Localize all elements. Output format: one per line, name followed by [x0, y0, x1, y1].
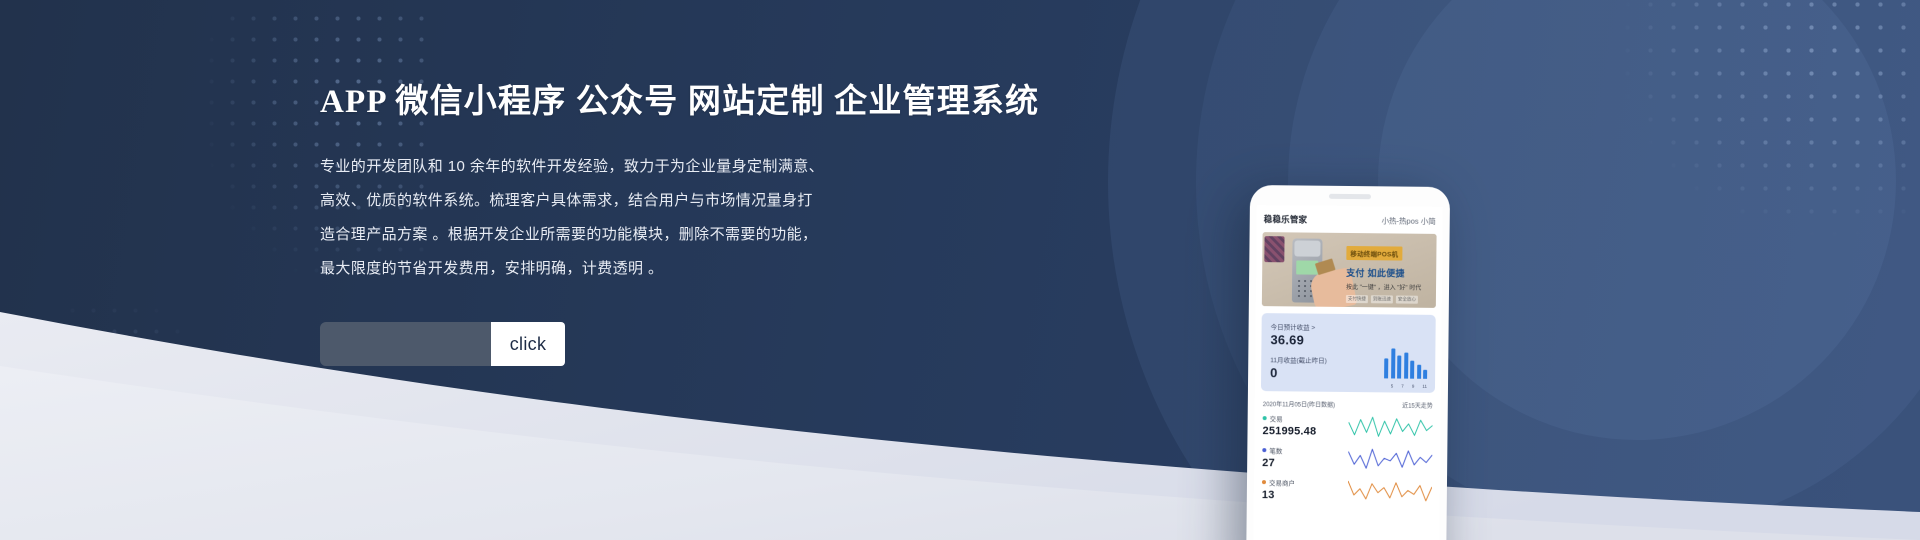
bar-axis-label-1: 5	[1391, 383, 1394, 388]
page-title: APP 微信小程序 公众号 网站定制 企业管理系统	[320, 74, 1039, 122]
hero-description: 专业的开发团队和 10 余年的软件开发经验，致力于为企业量身定制满意、 高效、优…	[320, 150, 940, 286]
banner-mini-tag-2: 到账迅速	[1371, 295, 1393, 303]
banner-mini-tag-1: 支付快捷	[1346, 295, 1368, 303]
bar	[1397, 355, 1401, 378]
banner-mini-tags: 支付快捷 到账迅速 安全放心	[1346, 295, 1432, 304]
banner-cloth-prop	[1264, 236, 1284, 262]
app-topbar: 稳稳乐管家 小热-热pos 小简	[1257, 205, 1443, 234]
stats-trend-label: 近15天走势	[1402, 401, 1433, 410]
banner-mini-tag-3: 安全放心	[1396, 295, 1418, 303]
hero-banner: APP 微信小程序 公众号 网站定制 企业管理系统 专业的开发团队和 10 余年…	[0, 0, 1920, 540]
sparkline-chart	[1348, 478, 1432, 503]
description-line-2: 高效、优质的软件系统。梳理客户具体需求，结合用户与市场情况量身打	[320, 184, 940, 218]
stat-name: 交易商户	[1269, 477, 1295, 487]
stats-header: 2020年11月05日(昨日数据) 近15天走势	[1263, 399, 1433, 410]
banner-subline: 按此 "一键" ，进入 "好" 时代	[1346, 282, 1432, 292]
stat-row-merchants[interactable]: 交易商户 13	[1262, 477, 1432, 503]
promo-banner[interactable]: 移动终端POS机 支付 如此便捷 按此 "一键" ，进入 "好" 时代 支付快捷…	[1262, 232, 1437, 308]
legend-dot-icon	[1262, 480, 1266, 484]
stat-value: 27	[1262, 457, 1282, 469]
bar	[1423, 369, 1427, 379]
stat-name: 交易	[1270, 413, 1283, 423]
app-title: 稳稳乐管家	[1264, 213, 1308, 225]
phone-speaker-notch	[1329, 194, 1371, 199]
phone-mockup: 稳稳乐管家 小热-热pos 小简 移动终端POS机 支付 如此	[1246, 185, 1450, 540]
description-line-3: 造合理产品方案 。根据开发企业所需要的功能模块，删除不需要的功能，	[320, 218, 940, 252]
sparkline-chart	[1348, 446, 1432, 471]
stat-value: 13	[1262, 489, 1295, 501]
banner-headline: 支付 如此便捷	[1346, 266, 1432, 280]
account-label: 小热-热pos 小简	[1381, 215, 1435, 227]
earnings-card[interactable]: 今日预计收益 > 36.69 11月收益(截止昨日) 0 5 7 9 11	[1261, 313, 1436, 393]
hero-content: APP 微信小程序 公众号 网站定制 企业管理系统 专业的开发团队和 10 余年…	[320, 0, 1080, 540]
bar	[1417, 365, 1421, 379]
description-line-1: 专业的开发团队和 10 余年的软件开发经验，致力于为企业量身定制满意、	[320, 150, 940, 184]
bar-axis-label-2: 7	[1401, 384, 1404, 389]
phone-body: 稳稳乐管家 小热-热pos 小简 移动终端POS机 支付 如此	[1246, 185, 1450, 540]
bar	[1410, 360, 1414, 378]
stats-date-label: 2020年11月05日(昨日数据)	[1263, 399, 1335, 409]
banner-tag: 移动终端POS机	[1346, 246, 1402, 261]
phone-screen: 稳稳乐管家 小热-热pos 小简 移动终端POS机 支付 如此	[1253, 205, 1443, 540]
earnings-bar-chart	[1384, 348, 1427, 378]
banner-text-block: 移动终端POS机 支付 如此便捷 按此 "一键" ，进入 "好" 时代 支付快捷…	[1346, 243, 1433, 304]
bar-axis-label-4: 11	[1422, 384, 1427, 389]
stat-row-transaction[interactable]: 交易 251995.48	[1262, 413, 1432, 439]
today-earnings-label[interactable]: 今日预计收益 >	[1271, 321, 1427, 333]
bar	[1391, 348, 1395, 378]
description-line-4: 最大限度的节省开发费用，安排明确，计费透明 。	[320, 252, 940, 286]
legend-dot-icon	[1262, 448, 1266, 452]
stats-section: 2020年11月05日(昨日数据) 近15天走势 交易 251995.48	[1262, 399, 1433, 503]
stat-row-count[interactable]: 笔数 27	[1262, 445, 1432, 471]
bar	[1384, 359, 1388, 379]
bar-axis-label-3: 9	[1412, 384, 1415, 389]
sparkline-chart	[1348, 414, 1432, 439]
stat-value: 251995.48	[1262, 425, 1316, 438]
pos-printer	[1294, 240, 1320, 256]
stat-name: 笔数	[1269, 445, 1282, 455]
cta-input-field[interactable]	[320, 322, 491, 366]
click-button[interactable]: click	[491, 322, 565, 366]
today-earnings-value: 36.69	[1270, 332, 1426, 349]
bar	[1404, 353, 1408, 379]
cta-group: click	[320, 322, 565, 366]
legend-dot-icon	[1263, 416, 1267, 420]
earnings-bar-axis: 5 7 9 11	[1391, 383, 1427, 388]
